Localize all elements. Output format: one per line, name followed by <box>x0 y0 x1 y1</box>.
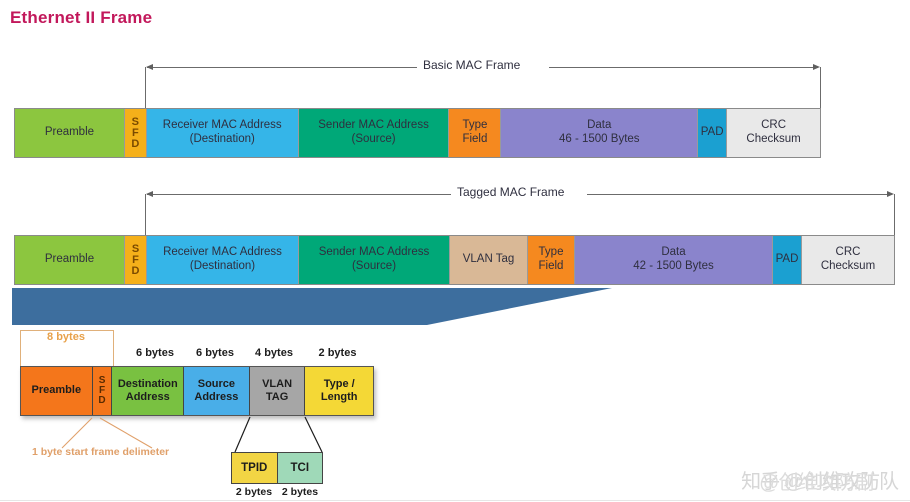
segment-sublabel: Checksum <box>746 133 800 147</box>
tagged-mac-frame-bracket: Tagged MAC Frame <box>145 194 895 195</box>
segment-sublabel: (Destination) <box>190 260 255 274</box>
frame-segment-preamble[interactable]: Preamble <box>15 236 125 284</box>
tagged-mac-frame-bar: Preamble S F D Receiver MAC Address (Des… <box>14 235 895 285</box>
segment-sublabel: (Destination) <box>190 133 255 147</box>
frame-segment-sfd[interactable]: S F D <box>125 236 147 284</box>
segment-sublabel: Length <box>321 391 358 404</box>
segment-label: Type <box>539 246 564 260</box>
segment-label: Receiver MAC Address <box>163 119 282 133</box>
bracket-arrow-left-icon <box>146 191 153 197</box>
byte-label-source: 6 bytes <box>180 347 250 359</box>
bracket-tick-right <box>894 194 895 236</box>
bracket-tick-left <box>145 67 146 110</box>
segment-sublabel: Checksum <box>821 260 875 274</box>
detail-segment-vlan-tag[interactable]: VLAN TAG <box>250 367 306 415</box>
segment-label: Sender MAC Address <box>318 119 429 133</box>
sfd-callout-note: 1 byte start frame delimeter <box>32 446 169 458</box>
frame-segment-sfd[interactable]: S F D <box>125 109 147 157</box>
sfd-letter-s: S <box>132 244 139 255</box>
frame-segment-receiver-mac[interactable]: Receiver MAC Address (Destination) <box>147 236 299 284</box>
byte-label-tpid: 2 bytes <box>231 486 277 498</box>
segment-label: PAD <box>776 253 799 267</box>
detail-segment-destination-address[interactable]: Destination Address <box>112 367 184 415</box>
byte-label-type-length: 2 bytes <box>305 347 370 359</box>
sfd-letter-d: D <box>132 266 140 277</box>
diagram-canvas: Ethernet II Frame Basic MAC Frame Preamb… <box>0 0 910 502</box>
basic-mac-frame-bracket: Basic MAC Frame <box>145 67 821 68</box>
segment-label: Receiver MAC Address <box>163 246 282 260</box>
frame-segment-type-field[interactable]: Type Field <box>449 109 501 157</box>
detail-segment-sfd[interactable]: S F D <box>93 367 113 415</box>
segment-sublabel: 42 - 1500 Bytes <box>633 260 714 274</box>
detail-segment-source-address[interactable]: Source Address <box>184 367 250 415</box>
segment-sublabel: Address <box>126 391 170 404</box>
basic-mac-frame-bar: Preamble S F D Receiver MAC Address (Des… <box>14 108 821 158</box>
bracket-tick-right <box>820 67 821 110</box>
segment-sublabel: 46 - 1500 Bytes <box>559 133 640 147</box>
segment-label: TPID <box>241 462 267 474</box>
frame-segment-preamble[interactable]: Preamble <box>15 109 125 157</box>
frame-segment-pad[interactable]: PAD <box>698 109 727 157</box>
tag-segment-tci[interactable]: TCI <box>278 453 323 483</box>
segment-label: Preamble <box>32 384 82 397</box>
detail-frame-bar: Preamble S F D Destination Address Sourc… <box>20 366 374 416</box>
segment-label: VLAN <box>262 378 292 391</box>
frame-segment-crc[interactable]: CRC Checksum <box>802 236 894 284</box>
frame-segment-vlan-tag[interactable]: VLAN Tag <box>450 236 528 284</box>
byte-label-tci: 2 bytes <box>277 486 323 498</box>
segment-label: VLAN Tag <box>463 253 515 267</box>
tag-segment-tpid[interactable]: TPID <box>232 453 278 483</box>
bracket-arrow-left-icon <box>146 64 153 70</box>
watermark: 知乎 @创维攻防队 @创维攻防剧 <box>741 465 898 494</box>
basic-mac-frame-label: Basic MAC Frame <box>417 58 526 72</box>
segment-label: Data <box>661 246 685 260</box>
segment-sublabel: (Source) <box>352 260 396 274</box>
frame-segment-pad[interactable]: PAD <box>773 236 802 284</box>
frame-segment-sender-mac[interactable]: Sender MAC Address (Source) <box>299 109 450 157</box>
vlan-tag-expansion-bar: TPID TCI <box>231 452 323 484</box>
segment-label: PAD <box>701 126 724 140</box>
frame-segment-data[interactable]: Data 42 - 1500 Bytes <box>575 236 773 284</box>
tagged-mac-frame-label: Tagged MAC Frame <box>451 185 570 199</box>
segment-label: CRC <box>836 246 861 260</box>
segment-sublabel: Field <box>462 133 487 147</box>
segment-label: Destination <box>118 378 178 391</box>
frame-segment-type-field[interactable]: Type Field <box>528 236 575 284</box>
watermark-overlay-text: @创维攻防剧 <box>759 466 873 495</box>
sfd-letter-d: D <box>131 139 139 150</box>
bracket-line-left <box>147 67 419 68</box>
zoom-connector-wedge <box>12 288 622 330</box>
sfd-letter-s: S <box>132 117 139 128</box>
segment-sublabel: (Source) <box>351 133 395 147</box>
segment-label: TCI <box>290 462 309 474</box>
sfd-letter-f: F <box>132 255 139 266</box>
sfd-letter-d: D <box>98 396 105 406</box>
bottom-divider <box>0 500 910 501</box>
bracket-arrow-right-icon <box>887 191 894 197</box>
bracket-tick-left <box>145 194 146 236</box>
segment-sublabel: TAG <box>266 391 288 404</box>
frame-segment-receiver-mac[interactable]: Receiver MAC Address (Destination) <box>147 109 299 157</box>
segment-sublabel: Address <box>194 391 238 404</box>
byte-label-vlan: 4 bytes <box>243 347 305 359</box>
detail-segment-preamble[interactable]: Preamble <box>21 367 93 415</box>
bracket-line-right <box>549 67 818 68</box>
segment-label: Source <box>198 378 235 391</box>
bracket-line-left <box>147 194 455 195</box>
segment-label: Type <box>462 119 487 133</box>
segment-label: Type / <box>324 378 355 391</box>
sfd-letter-f: F <box>132 128 139 139</box>
byte-label-preamble: 8 bytes <box>20 331 112 343</box>
bracket-line-right <box>587 194 892 195</box>
segment-sublabel: Field <box>539 260 564 274</box>
segment-label: CRC <box>761 119 786 133</box>
segment-label: Preamble <box>45 253 94 267</box>
frame-segment-sender-mac[interactable]: Sender MAC Address (Source) <box>299 236 450 284</box>
segment-label: Data <box>587 119 611 133</box>
bracket-arrow-right-icon <box>813 64 820 70</box>
frame-segment-crc[interactable]: CRC Checksum <box>727 109 820 157</box>
frame-segment-data[interactable]: Data 46 - 1500 Bytes <box>501 109 698 157</box>
segment-label: Sender MAC Address <box>319 246 430 260</box>
detail-segment-type-length[interactable]: Type / Length <box>305 367 373 415</box>
segment-label: Preamble <box>45 126 94 140</box>
page-title: Ethernet II Frame <box>10 8 152 28</box>
